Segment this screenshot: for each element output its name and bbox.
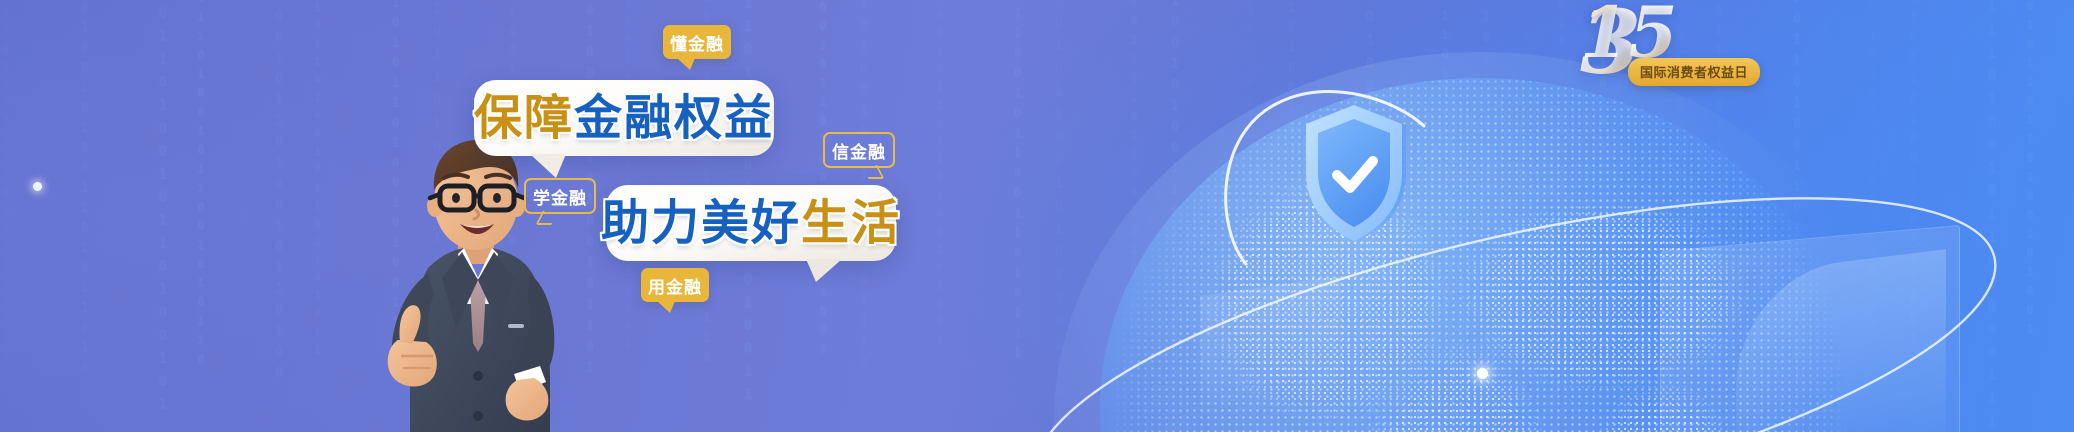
bubble-tail-2 bbox=[806, 259, 842, 282]
tag-tail bbox=[677, 58, 695, 70]
logo-subtitle-pill: 国际消费者权益日 bbox=[1628, 58, 1760, 86]
arc-endpoint-dot bbox=[33, 182, 42, 191]
shield-check-icon bbox=[1300, 103, 1408, 243]
promo-banner: 1010011010110010101001011010010100110101… bbox=[0, 0, 2074, 432]
binary-column: 1001011010010110100101 bbox=[154, 0, 172, 418]
tag-xue-label: 学金融 bbox=[533, 184, 587, 209]
bubble-tail-1 bbox=[530, 154, 566, 178]
headline-2-gold: 生活 bbox=[801, 195, 901, 251]
binary-column: 0110011010110010011001 bbox=[622, 0, 635, 356]
binary-column: 1110010110100110111001 bbox=[816, 0, 830, 361]
binary-column: 0110100101001101011010 bbox=[77, 0, 92, 381]
logo-315: 3 15 国际消费者权益日 bbox=[1580, 2, 1770, 92]
tag-yong-jinrong[interactable]: 用金融 bbox=[641, 268, 709, 302]
headline-line-2: 助力美好生活 bbox=[601, 199, 901, 247]
binary-column: 1010010110110100101001 bbox=[2023, 0, 2037, 341]
binary-column: 1010010110110100101001 bbox=[933, 0, 946, 351]
tag-dong-label: 懂金融 bbox=[670, 30, 724, 55]
orbit-ring bbox=[1015, 150, 2015, 432]
binary-column: 1101001011010010110100 bbox=[271, 0, 287, 386]
headline-bubble-1: 保障金融权益 bbox=[474, 80, 774, 156]
orbit-marker-dot bbox=[1477, 368, 1488, 379]
tag-xue-jinrong[interactable]: 学金融 bbox=[524, 178, 596, 214]
headline-1-gold: 保障 bbox=[474, 90, 574, 146]
headline-1-blue: 金融权益 bbox=[574, 90, 774, 146]
binary-column: 1010011010110010101001 bbox=[0, 0, 13, 366]
headline-2-blue: 助力美好 bbox=[601, 195, 801, 251]
binary-column: 1010110100101101101011 bbox=[311, 0, 324, 361]
tag-yong-label: 用金融 bbox=[648, 273, 702, 298]
headline-line-1: 保障金融权益 bbox=[474, 94, 774, 142]
tag-tail bbox=[657, 301, 675, 313]
headline-bubble-2: 助力美好生活 bbox=[606, 185, 896, 261]
tag-xin-jinrong[interactable]: 信金融 bbox=[823, 132, 895, 168]
binary-column: 0101101001011001010110 bbox=[194, 0, 208, 371]
tag-xin-label: 信金融 bbox=[832, 138, 886, 163]
tag-tail bbox=[861, 165, 884, 179]
tag-dong-jinrong[interactable]: 懂金融 bbox=[663, 25, 731, 59]
